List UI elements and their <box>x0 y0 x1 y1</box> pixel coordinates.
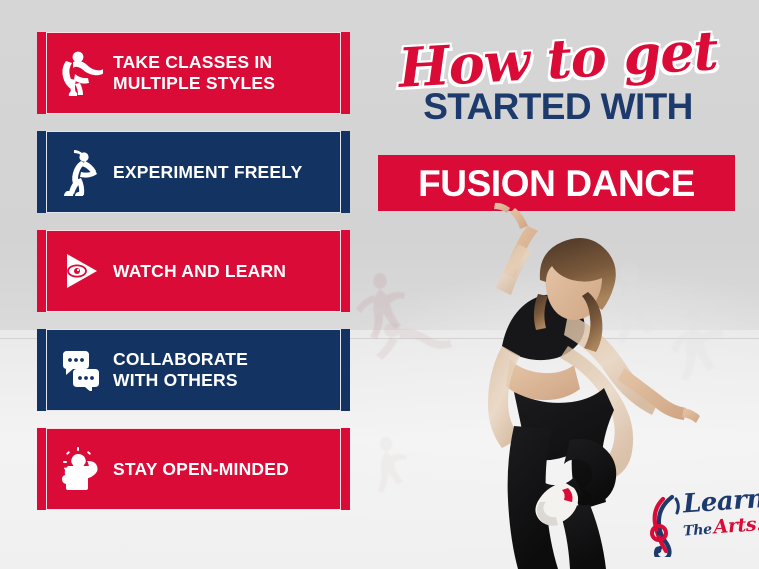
treble-clef-icon <box>645 493 685 557</box>
tip-card-inner: TAKE CLASSES IN MULTIPLE STYLES <box>46 32 341 114</box>
tip-card-inner: WATCH AND LEARN <box>46 230 341 312</box>
ghost-dancer-5 <box>360 430 420 500</box>
tip-card-label: WATCH AND LEARN <box>113 261 286 282</box>
tip-card-watch-and-learn[interactable]: WATCH AND LEARN <box>37 230 350 312</box>
tip-card-inner: EXPERIMENT FREELY <box>46 131 341 213</box>
tip-card-label: EXPERIMENT FREELY <box>113 162 302 183</box>
dancer-leap-icon <box>55 146 107 198</box>
play-eye-icon <box>55 245 107 297</box>
tip-card-label: STAY OPEN-MINDED <box>113 459 289 480</box>
tip-card-label: TAKE CLASSES IN MULTIPLE STYLES <box>113 52 275 93</box>
logo-line-learn: Learn <box>682 486 758 517</box>
tip-card-collaborate[interactable]: COLLABORATE WITH OTHERS <box>37 329 350 411</box>
tip-card-inner: COLLABORATE WITH OTHERS <box>46 329 341 411</box>
speech-bubbles-icon <box>55 344 107 396</box>
logo-line-the-arts: TheArts! <box>682 513 757 540</box>
logo-word-arts: Arts! <box>713 513 759 538</box>
tips-list: TAKE CLASSES IN MULTIPLE STYLES <box>37 32 350 527</box>
poster-canvas: How to get STARTED WITH FUSION DANCE <box>0 0 759 569</box>
tip-card-take-classes[interactable]: TAKE CLASSES IN MULTIPLE STYLES <box>37 32 350 114</box>
tip-card-label: COLLABORATE WITH OTHERS <box>113 349 248 390</box>
logo-wordmark: Learn TheArts! <box>683 489 757 538</box>
logo-word-the: The <box>683 522 713 540</box>
tip-card-stay-open-minded[interactable]: STAY OPEN-MINDED <box>37 428 350 510</box>
tip-card-experiment-freely[interactable]: EXPERIMENT FREELY <box>37 131 350 213</box>
headline-block: How to get STARTED WITH <box>378 34 738 125</box>
dancer-pose-icon <box>55 47 107 99</box>
brand-logo[interactable]: Learn TheArts! <box>645 489 755 561</box>
headline-subtitle: STARTED WITH <box>378 88 738 125</box>
open-mind-lightbulb-icon <box>55 443 107 495</box>
tip-card-inner: STAY OPEN-MINDED <box>46 428 341 510</box>
